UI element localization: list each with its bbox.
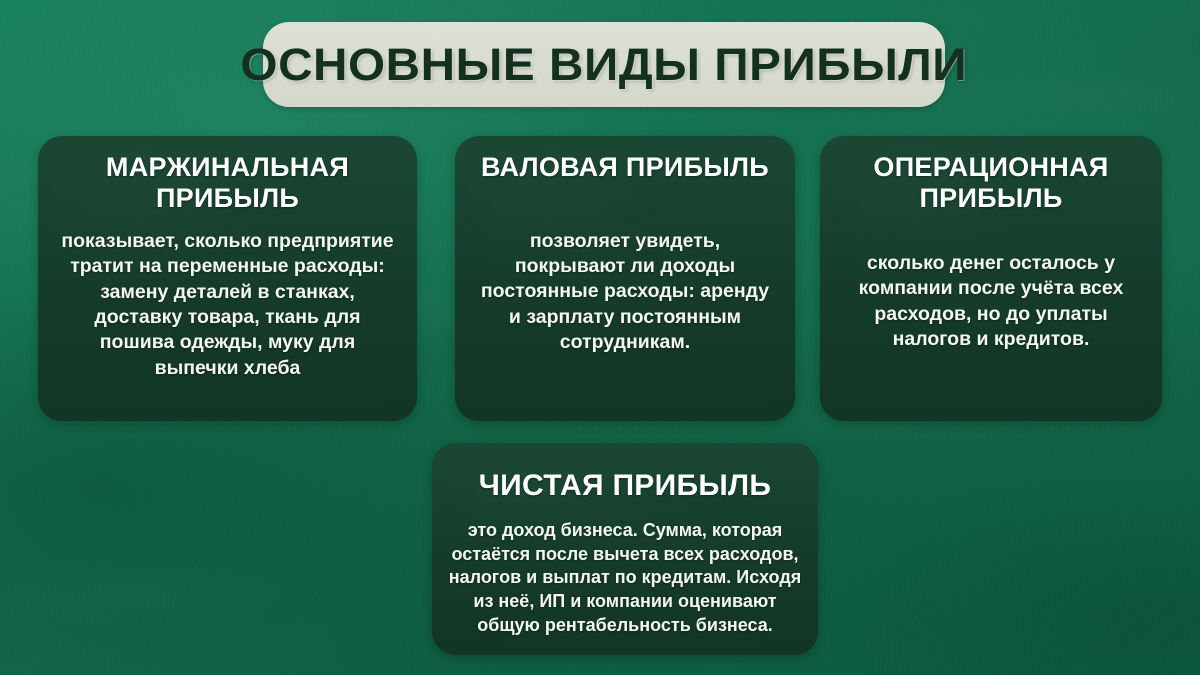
card-operating-profit-body: сколько денег осталось у компании после … [835,251,1147,352]
card-marginal-profit: МАРЖИНАЛЬНАЯ ПРИБЫЛЬ показывает, сколько… [38,136,417,421]
card-gross-profit-body: позволяет увидеть, покрывают ли доходы п… [475,229,775,356]
card-marginal-profit-title: МАРЖИНАЛЬНАЯ ПРИБЫЛЬ [68,152,388,213]
page-title: ОСНОВНЫЕ ВИДЫ ПРИБЫЛИ [241,39,968,91]
card-net-profit: ЧИСТАЯ ПРИБЫЛЬ это доход бизнеса. Сумма,… [432,443,818,655]
card-operating-profit: ОПЕРАЦИОННАЯ ПРИБЫЛЬ сколько денег остал… [820,136,1162,421]
card-gross-profit: ВАЛОВАЯ ПРИБЫЛЬ позволяет увидеть, покры… [455,136,795,421]
poster-title-banner: ОСНОВНЫЕ ВИДЫ ПРИБЫЛИ [263,22,945,107]
card-net-profit-title: ЧИСТАЯ ПРИБЫЛЬ [455,469,795,503]
poster-stage: ОСНОВНЫЕ ВИДЫ ПРИБЫЛИ МАРЖИНАЛЬНАЯ ПРИБЫ… [0,0,1200,675]
card-gross-profit-title: ВАЛОВАЯ ПРИБЫЛЬ [480,152,770,183]
card-marginal-profit-body: показывает, сколько предприятие тратит н… [58,229,398,381]
card-operating-profit-title: ОПЕРАЦИОННАЯ ПРИБЫЛЬ [836,152,1146,213]
card-net-profit-body: это доход бизнеса. Сумма, которая остаёт… [441,519,809,638]
